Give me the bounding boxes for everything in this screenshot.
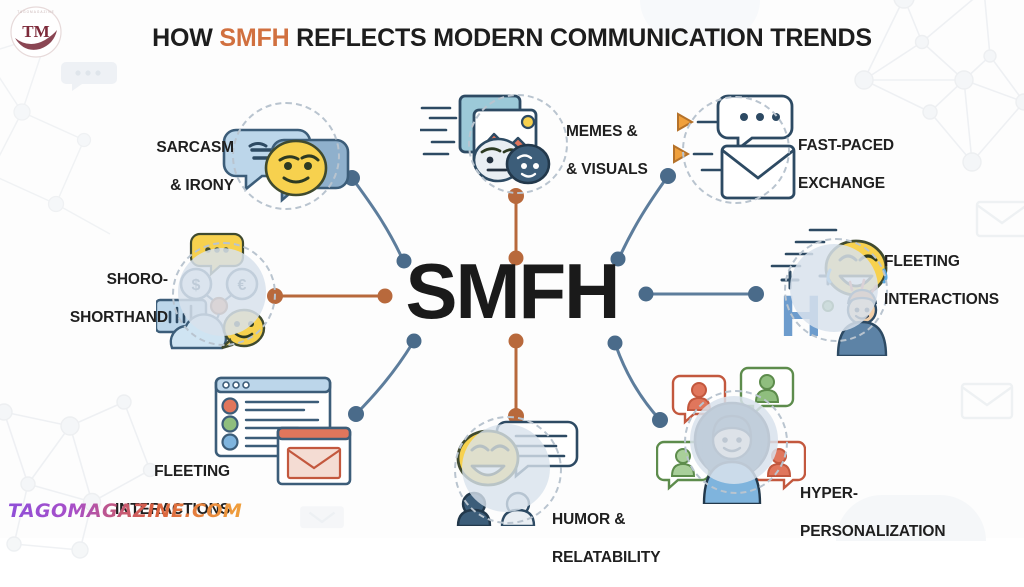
label-fleeting-interactions-left-line1: FLEETING xyxy=(110,463,230,482)
site-watermark: TAGOMAGAZINE.COM xyxy=(8,500,242,522)
icon-currency-shorthand[interactable]: $ € xyxy=(156,228,284,354)
icon-chat-envelope-send[interactable] xyxy=(672,90,802,202)
icon-meme-photo-faces[interactable] xyxy=(420,86,570,198)
label-humor-relatability: HUMOR & RELATABILITY xyxy=(552,492,712,587)
label-fleeting-interactions-right-line2: INTERACTIONS xyxy=(884,291,1022,310)
label-fleeting-interactions-right: FLEETING INTERACTIONS xyxy=(884,234,1022,329)
infographic-canvas: TM TAGOMAGAZINE HOW SMFH REFLECTS MODERN… xyxy=(0,0,1024,538)
label-humor-relatability-line2: RELATABILITY xyxy=(552,549,712,568)
label-fast-paced-exchange-line1: FAST-PACED xyxy=(798,137,948,156)
label-hyper-personalization: HYPER- PERSONALIZATION xyxy=(800,466,990,561)
label-hyper-personalization-line2: PERSONALIZATION xyxy=(800,523,990,542)
label-humor-relatability-line1: HUMOR & xyxy=(552,511,712,530)
label-fast-paced-exchange: FAST-PACED EXCHANGE xyxy=(798,118,948,213)
label-fast-paced-exchange-line2: EXCHANGE xyxy=(798,175,948,194)
connector-sarcasm-irony xyxy=(352,178,402,258)
label-hyper-personalization-line1: HYPER- xyxy=(800,485,990,504)
connector-hyper-personalization xyxy=(616,346,660,420)
label-shoro-shorthand: SHORO- SHORTHAND xyxy=(62,252,168,347)
icon-speech-bubbles-smirk[interactable] xyxy=(222,96,352,208)
icon-avatar-network[interactable] xyxy=(656,364,806,504)
label-sarcasm-irony-line1: SARCASM xyxy=(120,139,234,158)
connector-fleeting-left xyxy=(356,344,412,414)
label-sarcasm-irony: SARCASM & IRONY xyxy=(120,120,234,215)
label-shoro-shorthand-line1: SHORO- xyxy=(62,271,168,290)
icon-browser-window-message[interactable] xyxy=(212,372,360,492)
label-sarcasm-irony-line2: & IRONY xyxy=(120,177,234,196)
label-fleeting-interactions-right-line1: FLEETING xyxy=(884,253,1022,272)
label-shoro-shorthand-line2: SHORTHAND xyxy=(62,309,168,328)
icon-laughing-emoji-person[interactable]: H xyxy=(760,224,900,356)
label-fleeting-interactions-left: FLEETING INTERACTIONS xyxy=(110,444,230,539)
